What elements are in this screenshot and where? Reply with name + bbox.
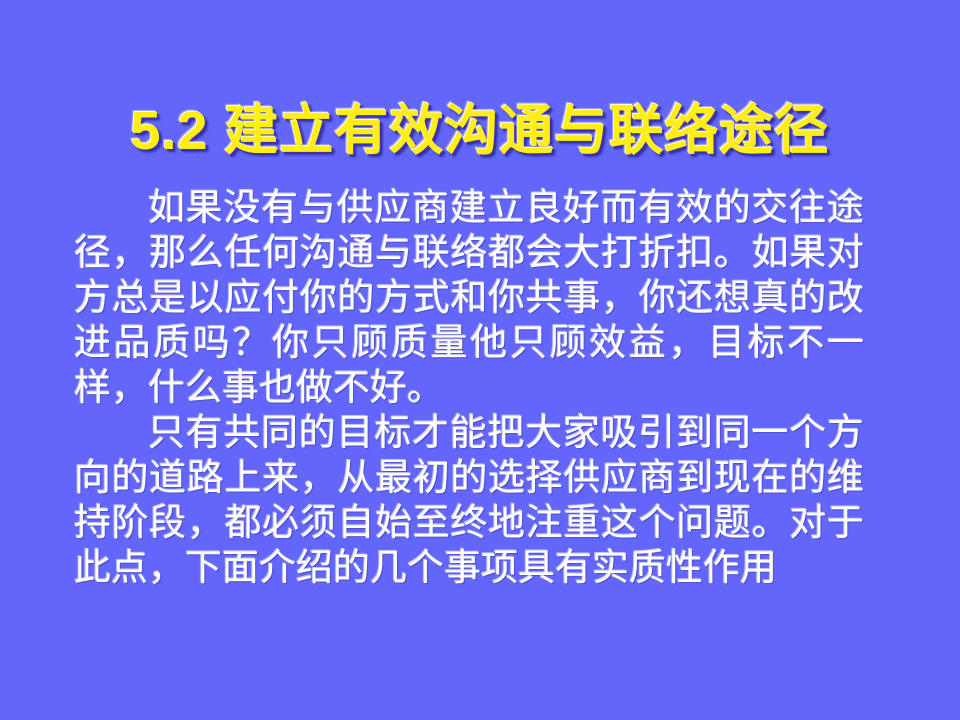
body-paragraph-2: 只有共同的目标才能把大家吸引到同一个方向的道路上来，从最初的选择供应商到现在的维… — [74, 411, 864, 591]
slide-canvas: 5.2 建立有效沟通与联络途径 如果没有与供应商建立良好而有效的交往途径，那么任… — [0, 0, 960, 720]
slide-title-block: 5.2 建立有效沟通与联络途径 — [0, 64, 960, 198]
page-title: 5.2 建立有效沟通与联络途径 — [130, 100, 829, 162]
body-paragraph-1: 如果没有与供应商建立良好而有效的交往途径，那么任何沟通与联络都会大打折扣。如果对… — [74, 186, 864, 411]
slide-body-block: 如果没有与供应商建立良好而有效的交往途径，那么任何沟通与联络都会大打折扣。如果对… — [74, 186, 864, 591]
